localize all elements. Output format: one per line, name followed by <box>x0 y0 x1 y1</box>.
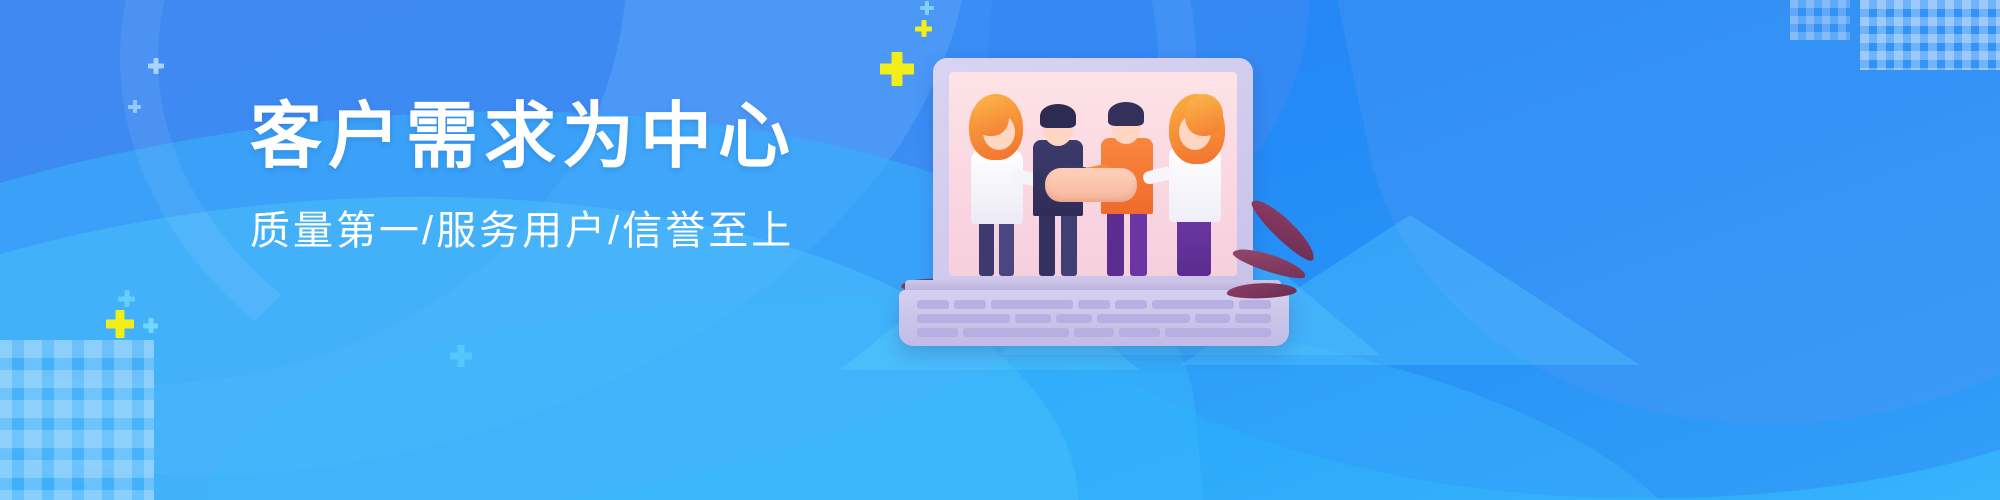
key <box>1165 328 1271 337</box>
key <box>1152 300 1235 309</box>
square-grid-top-right <box>1860 0 2000 70</box>
key <box>1056 314 1092 323</box>
key <box>963 328 1069 337</box>
hair <box>1108 102 1144 126</box>
plus-cyan-upper-icon <box>118 290 135 307</box>
laptop-lid <box>933 58 1253 286</box>
square-grid-bottom-left <box>0 340 154 500</box>
joined-hands <box>1045 168 1137 202</box>
banner-copy: 客户需求为中心 质量第一/服务用户/信誉至上 <box>250 100 870 256</box>
key <box>1115 300 1147 309</box>
plus-cyan-mid-icon <box>450 345 472 367</box>
key <box>1119 328 1160 337</box>
key <box>991 300 1074 309</box>
key <box>1235 314 1271 323</box>
hair-front <box>973 96 1009 136</box>
key <box>1078 300 1110 309</box>
key <box>1074 328 1115 337</box>
key <box>917 328 958 337</box>
laptop-illustration <box>905 58 1305 348</box>
key <box>917 300 949 309</box>
keyboard-row-3 <box>917 328 1271 337</box>
leg <box>1039 210 1055 276</box>
promo-banner: 客户需求为中心 质量第一/服务用户/信誉至上 <box>0 0 2000 500</box>
laptop-base <box>899 290 1289 346</box>
plus-white-left-icon <box>148 58 164 74</box>
key <box>1195 314 1231 323</box>
key <box>1097 314 1190 323</box>
square-grid-top-right-secondary <box>1790 0 1850 40</box>
key <box>1239 300 1271 309</box>
leg <box>1061 210 1077 276</box>
banner-headline: 客户需求为中心 <box>250 100 870 176</box>
key <box>954 300 986 309</box>
key <box>1015 314 1051 323</box>
plus-yellow-small-icon <box>915 20 932 37</box>
keyboard-row-2 <box>917 314 1271 323</box>
plus-cyan-small-icon <box>920 1 934 15</box>
plus-cyan-bottom-icon <box>143 318 158 333</box>
hair-front <box>1185 94 1223 136</box>
key <box>917 314 1010 323</box>
person-woman-right <box>1155 78 1235 276</box>
leg <box>999 218 1014 276</box>
torso <box>971 150 1023 224</box>
hair <box>1040 104 1076 128</box>
leg <box>1130 208 1147 276</box>
keyboard-row-1 <box>917 300 1271 309</box>
leg <box>1177 216 1211 276</box>
banner-subline: 质量第一/服务用户/信誉至上 <box>250 198 870 256</box>
leg <box>979 218 994 276</box>
plus-white-left2-icon <box>128 100 141 113</box>
plus-yellow-bottom-icon <box>106 310 134 338</box>
leg <box>1107 208 1124 276</box>
laptop-screen <box>949 72 1237 276</box>
